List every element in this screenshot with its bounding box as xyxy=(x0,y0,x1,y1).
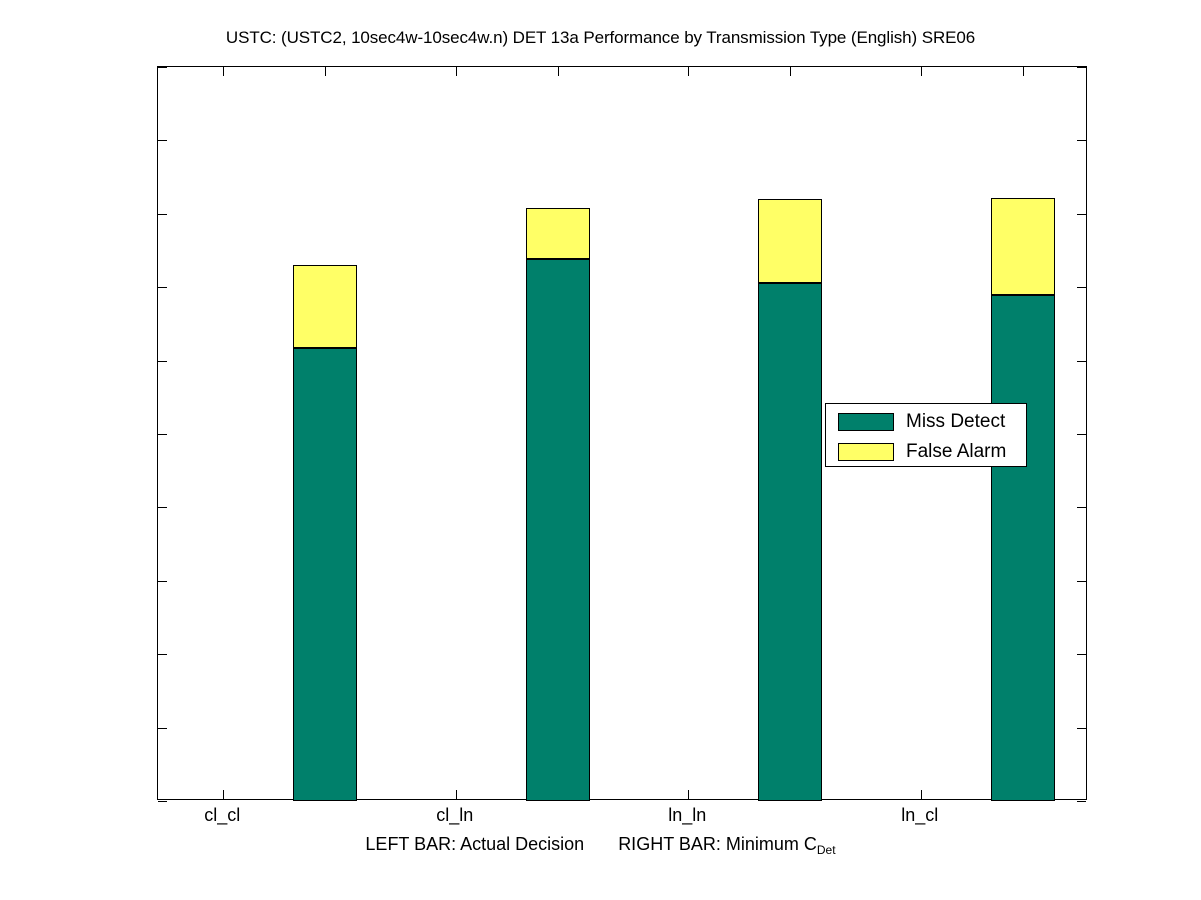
y-axis-tick-right xyxy=(1077,801,1086,802)
y-axis-tick-right xyxy=(1077,507,1086,508)
legend-swatch-false-alarm xyxy=(838,443,894,461)
x-axis-caption: LEFT BAR: Actual DecisionRIGHT BAR: Mini… xyxy=(0,834,1201,860)
y-axis-tick xyxy=(158,801,167,802)
x-axis-category-label: ln_cl xyxy=(840,806,1000,824)
y-axis-tick xyxy=(158,287,167,288)
y-axis-tick-right xyxy=(1077,140,1086,141)
x-axis-tick-top xyxy=(790,67,791,76)
y-axis-tick xyxy=(158,67,167,68)
y-axis-tick-right xyxy=(1077,214,1086,215)
x-axis-tick xyxy=(456,790,457,799)
y-axis-tick xyxy=(158,434,167,435)
x-caption-right-bar-subscript: Det xyxy=(817,843,836,857)
y-axis-tick xyxy=(158,581,167,582)
x-axis-category-label: ln_ln xyxy=(607,806,767,824)
figure-canvas: USTC: (USTC2, 10sec4w-10sec4w.n) DET 13a… xyxy=(0,0,1201,900)
x-axis-tick-top xyxy=(558,67,559,76)
legend-label-miss-detect: Miss Detect xyxy=(906,412,1005,432)
x-axis-tick-top xyxy=(1023,67,1024,76)
y-axis-tick-right xyxy=(1077,361,1086,362)
x-axis-tick-top xyxy=(921,67,922,76)
legend-item-false-alarm[interactable]: False Alarm xyxy=(826,436,1026,466)
y-axis-tick xyxy=(158,507,167,508)
y-axis-tick-right xyxy=(1077,287,1086,288)
legend-item-miss-detect[interactable]: Miss Detect xyxy=(826,406,1026,436)
bar-segment-miss-detect[interactable] xyxy=(526,259,590,801)
x-axis-tick xyxy=(921,790,922,799)
y-axis-tick xyxy=(158,140,167,141)
x-axis-tick-top xyxy=(688,67,689,76)
y-axis-tick-right xyxy=(1077,728,1086,729)
y-axis-tick-right xyxy=(1077,67,1086,68)
x-axis-category-label: cl_ln xyxy=(375,806,535,824)
y-axis-tick-right xyxy=(1077,654,1086,655)
x-axis-category-label: cl_cl xyxy=(142,806,302,824)
bar-segment-miss-detect[interactable] xyxy=(758,283,822,801)
y-axis-tick xyxy=(158,214,167,215)
x-axis-tick xyxy=(688,790,689,799)
legend-label-false-alarm: False Alarm xyxy=(906,442,1006,462)
bar-segment-false-alarm[interactable] xyxy=(293,265,357,348)
bar-segment-false-alarm[interactable] xyxy=(526,208,590,259)
bar-segment-false-alarm[interactable] xyxy=(758,199,822,283)
y-axis-tick xyxy=(158,654,167,655)
bar-segment-false-alarm[interactable] xyxy=(991,198,1055,296)
x-axis-tick-top xyxy=(223,67,224,76)
x-caption-right-bar: RIGHT BAR: Minimum C xyxy=(618,834,817,854)
bar-segment-miss-detect[interactable] xyxy=(991,295,1055,801)
x-axis-tick-top xyxy=(456,67,457,76)
y-axis-tick-right xyxy=(1077,434,1086,435)
x-caption-left-bar: LEFT BAR: Actual Decision xyxy=(365,834,584,854)
y-axis-tick-right xyxy=(1077,581,1086,582)
bar-segment-miss-detect[interactable] xyxy=(293,348,357,801)
page-title: USTC: (USTC2, 10sec4w-10sec4w.n) DET 13a… xyxy=(0,28,1201,48)
y-axis-tick xyxy=(158,361,167,362)
legend-swatch-miss-detect xyxy=(838,413,894,431)
x-axis-tick-top xyxy=(325,67,326,76)
chart-legend: Miss Detect False Alarm xyxy=(825,403,1027,467)
x-axis-tick xyxy=(223,790,224,799)
y-axis-tick xyxy=(158,728,167,729)
